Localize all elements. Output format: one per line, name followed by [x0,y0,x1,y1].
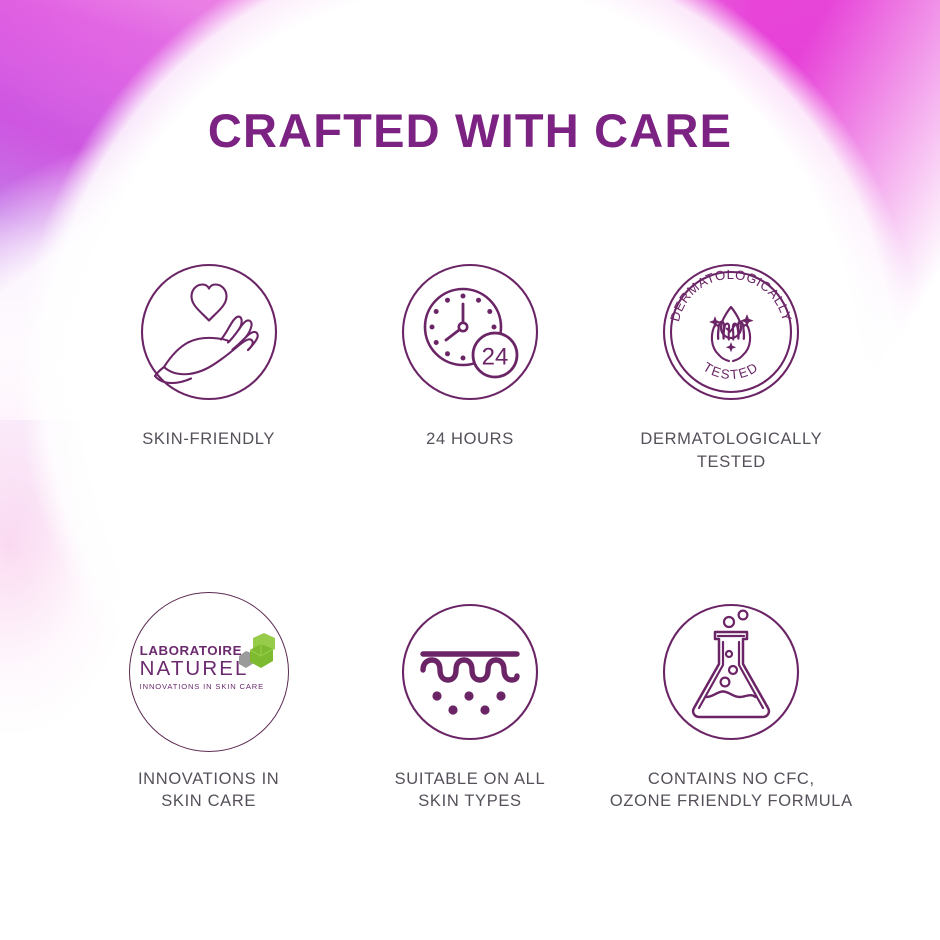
feature-label: SKIN-FRIENDLY [142,428,275,451]
logo-text-block: LABORATOIRE NATUREL INNOVATIONS IN SKIN … [140,644,278,691]
flask-icon [651,592,811,752]
feature-label: DERMATOLOGICALLY TESTED [640,428,822,474]
page-title: CRAFTED WITH CARE [0,103,940,158]
feature-label: INNOVATIONS IN SKIN CARE [138,768,279,814]
clock-badge-text: 24 [482,344,509,371]
feature-item-skin-friendly[interactable]: SKIN-FRIENDLY [78,252,339,474]
seal-bottom-text: TESTED [701,359,762,382]
logo-line-naturel: NATUREL [140,658,249,680]
poster-canvas: CRAFTED WITH CARE [0,0,940,940]
seal-arc-text: DERMATOLOGICALLY [667,267,795,323]
feature-grid: SKIN-FRIENDLY [78,252,862,813]
logo-line-laboratoire: LABORATOIRE [140,644,242,657]
feature-item-suitable-on-all-skin-types[interactable]: SUITABLE ON ALL SKIN TYPES [339,592,600,814]
feature-label: CONTAINS NO CFC, OZONE FRIENDLY FORMULA [610,768,853,814]
skin-layers-icon [390,592,550,752]
logo-line-tagline: INNOVATIONS IN SKIN CARE [140,683,264,691]
feature-label: SUITABLE ON ALL SKIN TYPES [395,768,546,814]
clock-24-icon: 24 [390,252,550,412]
feature-item-dermatologically-tested[interactable]: DERMATOLOGICALLY TESTED [601,252,862,474]
feature-item-innovations-in-skin-care[interactable]: LABORATOIRE NATUREL INNOVATIONS IN SKIN … [78,592,339,814]
feature-item-24-hours[interactable]: 24 24 HOURS [339,252,600,474]
poster-content: CRAFTED WITH CARE [0,0,940,940]
laboratoire-naturel-logo-icon: LABORATOIRE NATUREL INNOVATIONS IN SKIN … [129,592,289,752]
feature-label: 24 HOURS [426,428,514,451]
dermatologically-tested-seal-icon: DERMATOLOGICALLY TESTED [651,252,811,412]
hand-heart-icon [129,252,289,412]
feature-item-contains-no-cfc[interactable]: CONTAINS NO CFC, OZONE FRIENDLY FORMULA [601,592,862,814]
